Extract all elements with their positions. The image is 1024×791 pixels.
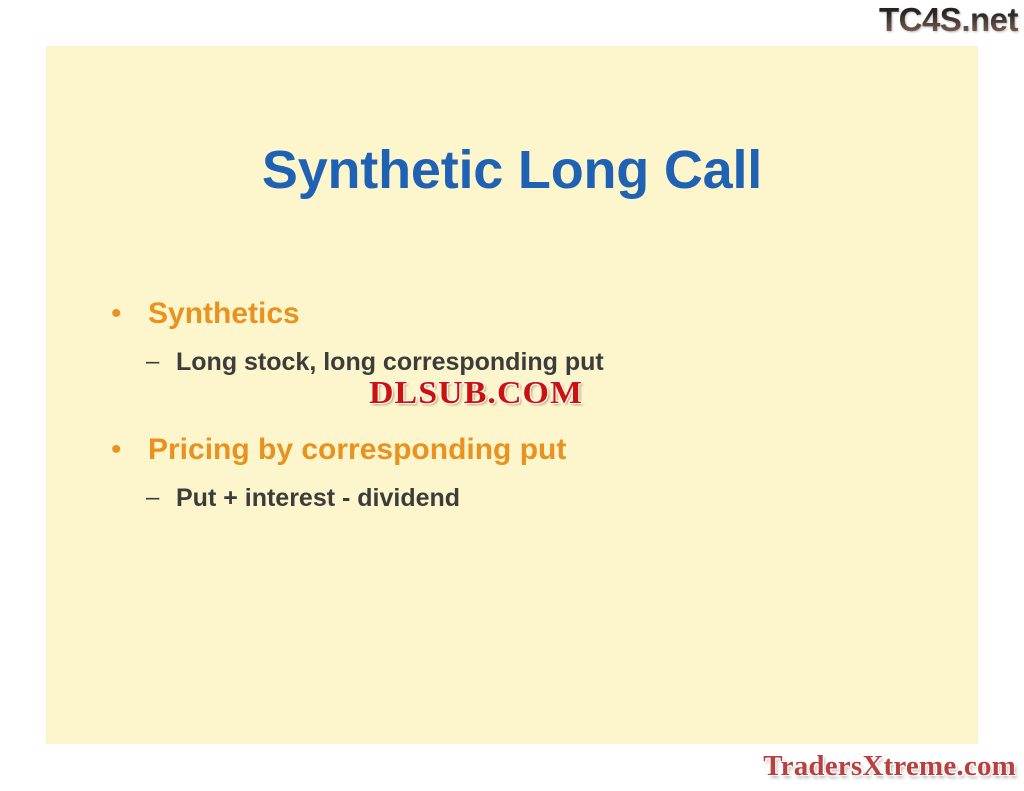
bullet-group-spacer — [104, 386, 934, 428]
bullet-list: • Synthetics – Long stock, long correspo… — [104, 292, 934, 522]
bullet-dot-icon: • — [104, 292, 148, 336]
subbullet-label: Long stock, long corresponding put — [176, 342, 604, 382]
slide-page: Synthetic Long Call • Synthetics – Long … — [0, 0, 1024, 791]
bullet-dot-icon: • — [104, 428, 148, 472]
slide-canvas: Synthetic Long Call • Synthetics – Long … — [46, 46, 978, 744]
subbullet-item-long-stock: – Long stock, long corresponding put — [104, 342, 934, 382]
tc4s-logo: TC4S.net — [879, 1, 1018, 39]
subbullet-item-put-interest-dividend: – Put + interest - dividend — [104, 478, 934, 518]
bullet-label: Pricing by corresponding put — [148, 428, 566, 472]
bullet-dash-icon: – — [146, 342, 176, 382]
subbullet-label: Put + interest - dividend — [176, 478, 460, 518]
tradersxtreme-logo: TradersXtreme.com — [763, 750, 1016, 783]
bullet-item-pricing: • Pricing by corresponding put — [104, 428, 934, 472]
bullet-dash-icon: – — [146, 478, 176, 518]
bullet-item-synthetics: • Synthetics — [104, 292, 934, 336]
bullet-label: Synthetics — [148, 292, 300, 336]
page-title: Synthetic Long Call — [46, 142, 978, 199]
